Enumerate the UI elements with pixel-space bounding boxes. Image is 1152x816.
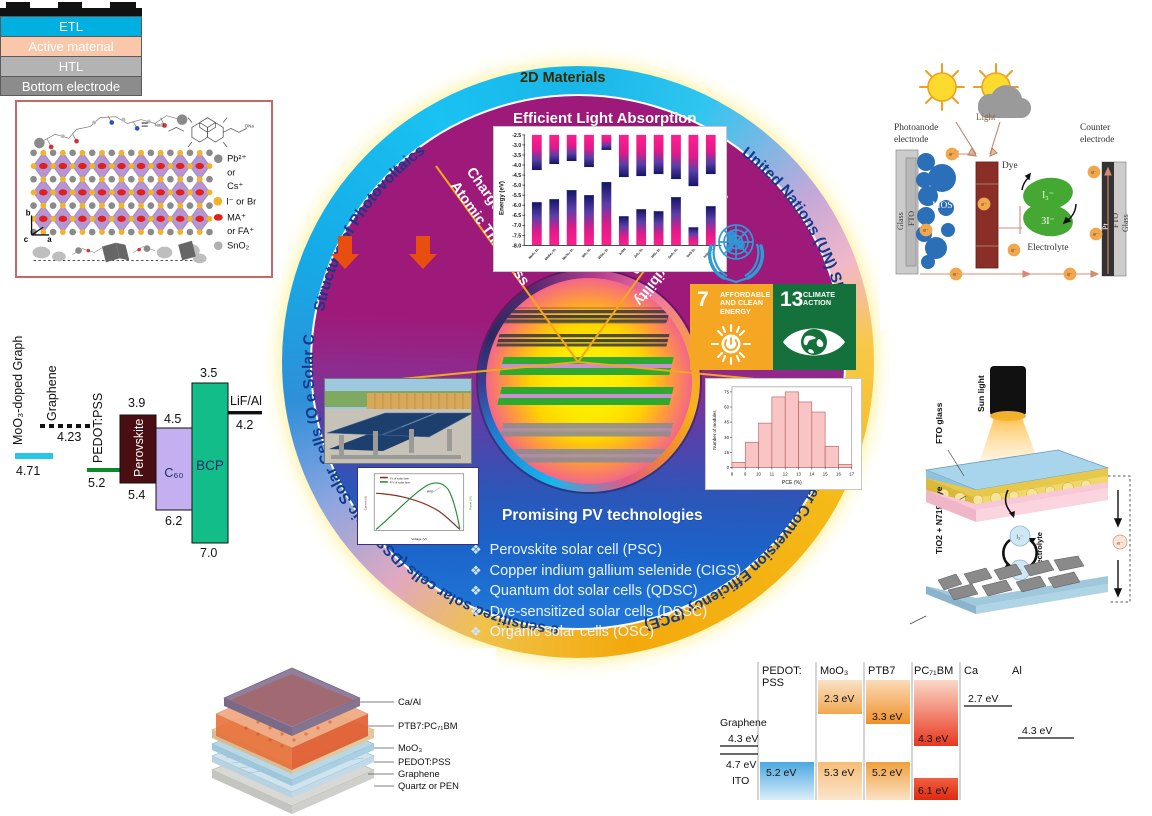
list-item-label: Copper indium gallium selenide (CIGS) — [490, 563, 741, 579]
svg-text:-6.0: -6.0 — [512, 203, 521, 209]
left-glass-label: Glass — [896, 212, 905, 230]
svg-text:11: 11 — [770, 471, 775, 476]
jv-power-curve-chart: I-V of solar farm P-V of solar farm MPP … — [357, 467, 479, 545]
svg-text:10: 10 — [756, 471, 761, 476]
sdg-icons: 7 AFFORDABLE AND CLEAN ENERGY 13 CLIMATE… — [690, 284, 856, 370]
counter-electrode: Pt FTO Glass — [1101, 162, 1130, 276]
fto-glass-label: FTO glass — [934, 402, 944, 444]
col-header-pedot-l1: PEDOT: — [762, 665, 802, 677]
jv-y2-label: Power (W) — [469, 496, 473, 510]
bullet-marker-icon: ❖ — [470, 624, 482, 639]
carrier-label: e⁻ — [1117, 541, 1123, 547]
svg-text:-8.0: -8.0 — [512, 243, 521, 249]
svg-text:-5.0: -5.0 — [512, 183, 521, 189]
svg-text:17: 17 — [849, 471, 854, 476]
svg-text:-4.0: -4.0 — [512, 163, 521, 169]
svg-text:15: 15 — [823, 471, 828, 476]
legend-label-pb: Pb²⁺ — [227, 154, 246, 164]
value-ca: 2.7 eV — [968, 693, 998, 705]
carrier-label: e⁻ — [923, 228, 929, 234]
svg-text:-2.5: -2.5 — [512, 133, 521, 139]
counter-label-l1: Counter — [1080, 123, 1111, 133]
value-moo3-homo: 5.3 eV — [824, 767, 854, 779]
2d-material-layers — [486, 278, 692, 484]
list-item-label: Dye-sensitized solar cells (DSSC) — [490, 604, 708, 620]
heading-promising-pv-technologies: Promising PV technologies — [502, 507, 703, 525]
carrier-label: e⁻ — [953, 272, 959, 278]
lattice-network — [30, 150, 213, 236]
formula-label-ona: ONa — [245, 123, 255, 128]
value-bcp-lumo: 3.5 — [200, 366, 217, 380]
carrier-label: e⁻ — [949, 152, 955, 158]
osc-layer-label-graphene: Graphene — [398, 768, 440, 779]
right-fto-label: FTO — [1111, 213, 1120, 228]
eye-globe-icon — [773, 318, 856, 364]
carrier-label: e⁻ — [1011, 248, 1017, 254]
histogram-bar — [812, 412, 825, 467]
redox-top-label: I₃⁻ — [1016, 535, 1023, 541]
jv-annotation-mpp: MPP — [427, 489, 433, 493]
value-graphene: 4.3 eV — [728, 733, 758, 745]
sdg-7-number: 7 — [697, 289, 709, 310]
equals-sign: = — [141, 117, 148, 131]
list-item-label: Quantum dot solar cells (QDSC) — [490, 583, 698, 599]
value-al: 4.3 eV — [1022, 725, 1052, 737]
perovskite-energy-level-diagram: MoO₃-doped Graphene 4.71 Graphene 4.23 P… — [2, 335, 264, 560]
value-ito: 4.7 eV — [726, 759, 756, 771]
histogram-bar — [772, 397, 785, 467]
bullet-marker-icon: ❖ — [470, 583, 482, 598]
value-moo3-graphene: 4.71 — [16, 464, 40, 478]
pt-label: Pt — [1101, 223, 1110, 230]
list-item: ❖Organic solar cells (OSC) — [470, 622, 800, 643]
histogram-bar — [838, 464, 851, 467]
histogram-y-label: Number of modules — [712, 410, 717, 450]
value-perovskite-lumo: 3.9 — [128, 396, 145, 410]
light-label: Light — [976, 112, 996, 122]
value-moo3-lumo: 2.3 eV — [824, 693, 854, 705]
histogram-bar — [799, 402, 812, 467]
value-ptb7-homo: 5.2 eV — [872, 767, 902, 779]
photoanode-label-l2: electrode — [894, 135, 928, 145]
sdg-13-number: 13 — [780, 289, 803, 310]
level-lif-al — [228, 411, 262, 414]
pce-histogram-chart: 01530456075 891011121314151617 Number of… — [705, 378, 862, 490]
band-alignment-chart: -2.5-3.0-3.5-4.0-4.5-5.0-5.5-6.0-6.5-7.0… — [493, 126, 727, 272]
col-header-al: Al — [1012, 665, 1022, 677]
list-item: ❖Dye-sensitized solar cells (DSSC) — [470, 602, 800, 623]
value-pedot-pss: 5.2 — [88, 476, 105, 490]
list-item: ❖Quantum dot solar cells (QDSC) — [470, 581, 800, 602]
svg-text:-6.5: -6.5 — [512, 213, 521, 219]
value-c60-lumo: 4.5 — [164, 412, 181, 426]
right-glass-label: Glass — [1121, 214, 1130, 232]
united-nations-emblem-icon — [696, 212, 776, 286]
sdg-13-text: CLIMATE ACTION — [803, 291, 856, 308]
sdg-goal-13: 13 CLIMATE ACTION — [773, 284, 856, 370]
svg-text:45: 45 — [724, 420, 729, 425]
label-graphene: Graphene — [720, 717, 767, 729]
label-ito: ITO — [732, 775, 749, 787]
photoanode-electrode: Glass FTO — [896, 150, 918, 274]
solar-panel-illustration — [325, 379, 472, 464]
level-pedot-pss — [87, 468, 121, 472]
sun-icon — [920, 64, 964, 110]
svg-text:-7.5: -7.5 — [512, 233, 521, 239]
svg-text:16: 16 — [836, 471, 841, 476]
jv-legend-item-iv: I-V of solar farm — [390, 476, 410, 480]
jv-y-label: Current (A) — [363, 496, 367, 510]
counter-label-l2: electrode — [1080, 135, 1114, 145]
histogram-bar — [825, 446, 838, 467]
label-bcp: BCP — [196, 458, 224, 473]
value-lif-al: 4.2 — [236, 418, 253, 432]
osc-layer-label-pedot: PEDOT:PSS — [398, 756, 451, 767]
svg-text:75: 75 — [724, 389, 729, 394]
osc-layer-label-moo3: MoO₃ — [398, 742, 422, 753]
label-lif-al: LiF/Al — [230, 394, 262, 408]
col-header-pedot-l2: PSS — [762, 677, 784, 689]
sdg-7-text: AFFORDABLE AND CLEAN ENERGY — [720, 291, 773, 316]
value-pcbm-homo: 6.1 eV — [918, 785, 948, 797]
histogram-x-label: PCE (%) — [782, 480, 802, 486]
dye-column — [976, 162, 998, 268]
mos-label: MOS — [932, 201, 953, 211]
histogram-bar — [732, 462, 745, 467]
carrier-label: e⁻ — [1093, 232, 1099, 238]
value-perovskite-homo: 5.4 — [128, 488, 145, 502]
carrier-label: e⁻ — [1067, 272, 1073, 278]
sunlight-label: Sun light — [976, 375, 986, 412]
value-bcp-homo: 7.0 — [200, 546, 217, 560]
svg-text:-3.0: -3.0 — [512, 143, 521, 149]
legend-label-ma: MA⁺ — [227, 212, 246, 222]
svg-text:30: 30 — [724, 435, 729, 440]
osc-layer-label-quartz: Quartz or PEN — [398, 780, 459, 791]
solar-farm-photo — [324, 378, 472, 464]
electrolyte-label: Electrolyte — [1027, 243, 1068, 253]
heading-efficient-light-absorption: Efficient Light Absorption — [513, 110, 697, 127]
axis-label-c: c — [24, 235, 29, 244]
dssc-device-3d-diagram: Sun light FTO glass TiO2 + N719 Dye I₃⁻ … — [890, 358, 1146, 626]
svg-text:-7.0: -7.0 — [512, 223, 521, 229]
jv-x-label: Voltage (V) — [411, 537, 426, 541]
sdg-goal-7: 7 AFFORDABLE AND CLEAN ENERGY — [690, 284, 773, 370]
label-c60: C₆₀ — [164, 466, 183, 480]
axis-label-a: a — [47, 235, 52, 244]
jv-legend-item-pv: P-V of solar farm — [390, 481, 411, 485]
histogram-bar — [745, 442, 758, 467]
redox-top-label: I₃⁻ — [1042, 190, 1054, 201]
label-moo3-doped-graphene: MoO₃-doped Graphene — [11, 335, 25, 445]
bullet-marker-icon: ❖ — [470, 604, 482, 619]
col-header-pcbm: PC₇₁BM — [914, 665, 953, 677]
center-2d-materials-disc — [486, 278, 692, 484]
list-item: ❖Perovskite solar cell (PSC) — [470, 540, 800, 561]
histogram-bar — [759, 423, 772, 467]
sun-power-icon — [690, 320, 773, 366]
carrier-label: e⁻ — [1091, 170, 1097, 176]
value-pedot-homo: 5.2 eV — [766, 767, 796, 779]
dye-label: Dye — [1002, 161, 1018, 171]
layer-bottom-electrode: Bottom electrode — [0, 76, 142, 96]
svg-text:-5.5: -5.5 — [512, 193, 521, 199]
svg-text:12: 12 — [783, 471, 788, 476]
legend-label-or2: or FA⁺ — [227, 226, 254, 236]
value-pcbm-lumo: 4.3 eV — [918, 733, 948, 745]
histogram-bar — [785, 392, 798, 468]
value-ptb7-lumo: 3.3 eV — [872, 711, 902, 723]
list-item-label: Perovskite solar cell (PSC) — [490, 542, 662, 558]
value-graphene: 4.23 — [57, 430, 81, 444]
osc-energy-level-diagram: PEDOT: PSS MoO₃ PTB7 PC₇₁BM Ca Al Graphe… — [706, 648, 1146, 812]
redox-bottom-label: 3I⁻ — [1041, 216, 1055, 227]
axis-label-b: b — [26, 208, 31, 217]
col-header-ca: Ca — [964, 665, 979, 677]
svg-text:-3.5: -3.5 — [512, 153, 521, 159]
col-header-ptb7: PTB7 — [868, 665, 896, 677]
device-stack-diagram: ETL Active material HTL Bottom electrode — [0, 0, 142, 102]
page-title-text: SOLAR CELLS — [274, 8, 758, 15]
legend-label-sno2: SnO₂ — [227, 241, 250, 251]
svg-text:-4.5: -4.5 — [512, 173, 521, 179]
layer-etl: ETL — [0, 16, 142, 36]
label-pedot-pss: PEDOT:PSS — [91, 393, 105, 463]
svg-text:13: 13 — [796, 471, 801, 476]
svg-text:15: 15 — [724, 450, 729, 455]
layer-active-material: Active material — [0, 36, 142, 56]
col-header-moo3: MoO₃ — [820, 665, 848, 677]
pv-technologies-list: ❖Perovskite solar cell (PSC) ❖Copper ind… — [470, 540, 800, 643]
svg-text:60: 60 — [724, 405, 729, 410]
left-fto-label: FTO — [907, 211, 916, 226]
legend-label-cs: Cs⁺ — [227, 181, 243, 191]
photoanode-label-l1: Photoanode — [894, 123, 938, 133]
ring-label-2d-materials: 2D Materials — [520, 70, 605, 86]
osc-layer-label-ca-al: Ca/Al — [398, 696, 421, 707]
bullet-marker-icon: ❖ — [470, 563, 482, 578]
top-electrode-contacts — [0, 0, 142, 16]
legend-label-i-br: I⁻ or Br — [226, 197, 256, 207]
svg-text:14: 14 — [809, 471, 814, 476]
osc-layer-label-ptb7: PTB7:PC₇₁BM — [398, 720, 458, 731]
list-item: ❖Copper indium gallium selenide (CIGS) — [470, 561, 800, 582]
legend-label-or1: or — [227, 167, 235, 177]
osc-device-stack-diagram: Ca/Al PTB7:PC₇₁BM MoO₃ PEDOT:PSS Graphen… — [196, 648, 496, 814]
value-c60-homo: 6.2 — [165, 514, 182, 528]
list-item-label: Organic solar cells (OSC) — [490, 624, 654, 640]
layer-htl: HTL — [0, 56, 142, 76]
incident-light-arrows — [330, 236, 460, 270]
label-graphene: Graphene — [45, 365, 59, 421]
formula-label-nao: NaO — [155, 122, 165, 127]
perovskite-crystal-structure-panel: = NaO ONa b c a Pb²⁺ or Cs⁺ I⁻ or Br MA⁺… — [15, 100, 273, 278]
label-perovskite: Perovskite — [132, 419, 146, 477]
figure-canvas: { "title": "SOLAR CELLS", "ring": { "gol… — [0, 0, 1152, 816]
carrier-label: e⁻ — [981, 202, 987, 208]
level-moo3-graphene — [15, 453, 53, 459]
chart-y-label: Energy (eV) — [498, 181, 505, 215]
dssc-mechanism-diagram: Light Photoanode electrode Counter elect… — [880, 58, 1142, 330]
